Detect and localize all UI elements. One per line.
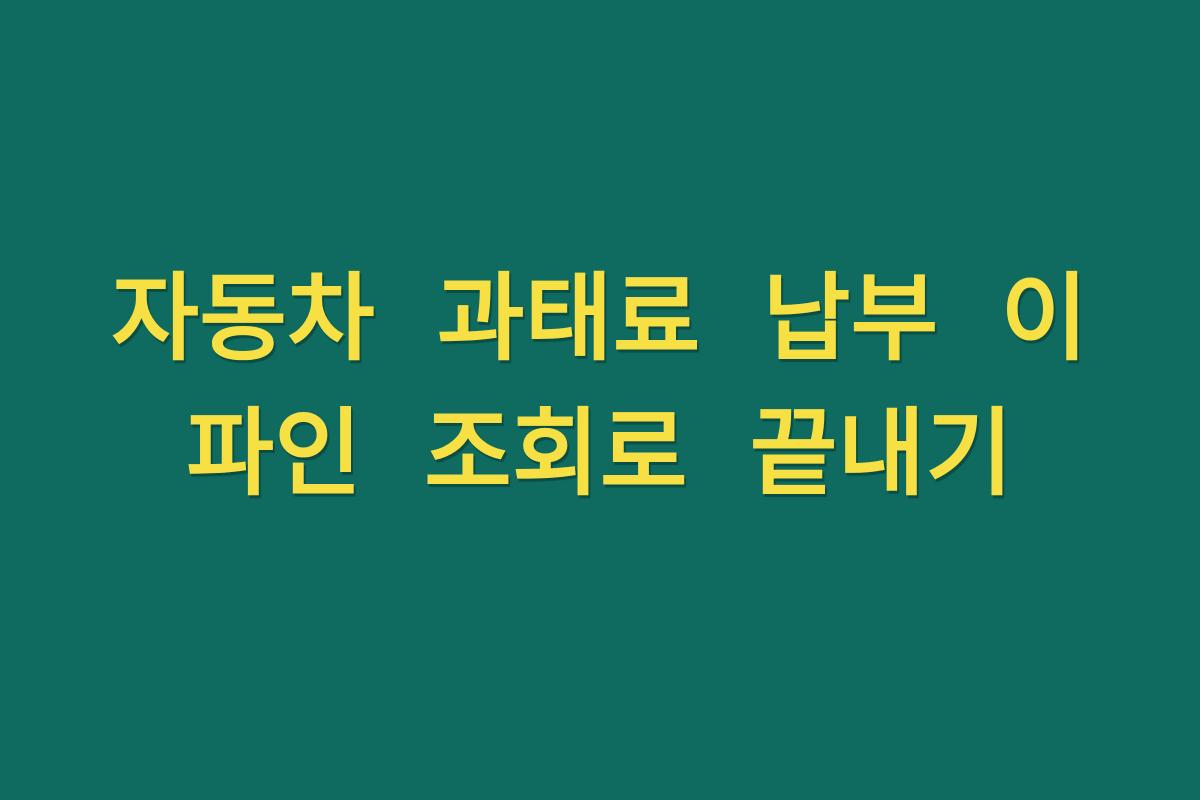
headline-line-1: 자동차 과태료 납부 이: [0, 253, 1200, 386]
banner-canvas: 자동차 과태료 납부 이 파인 조회로 끝내기: [0, 0, 1200, 800]
headline-block: 자동차 과태료 납부 이 파인 조회로 끝내기: [0, 253, 1200, 521]
headline-line-2: 파인 조회로 끝내기: [0, 388, 1200, 521]
